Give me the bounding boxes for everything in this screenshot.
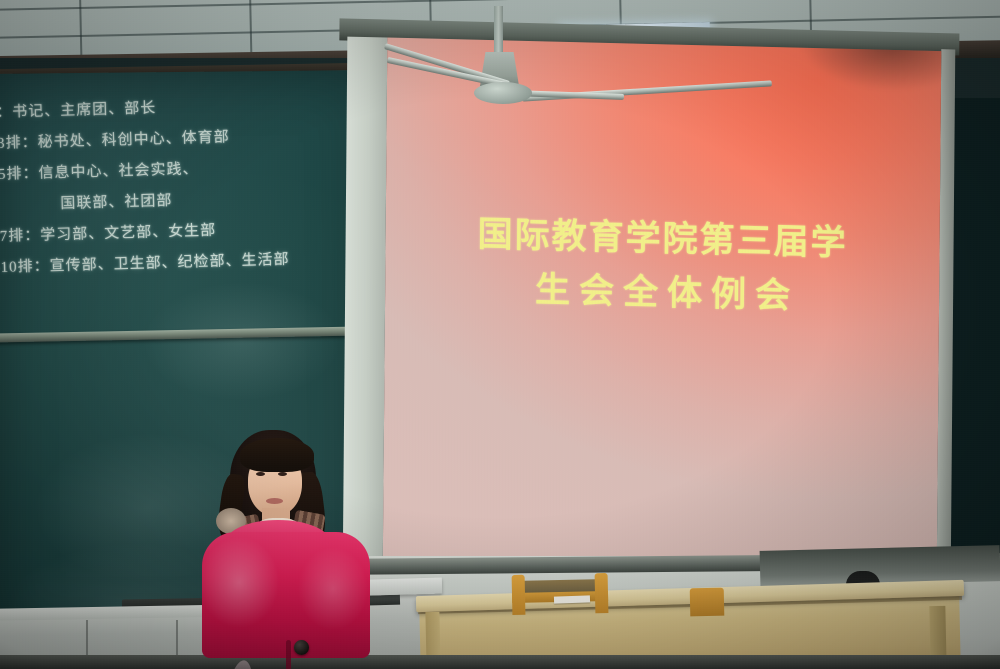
person-speaker: [196, 428, 376, 648]
projected-slide: 国际教育学院第三届学 生会全体例会: [383, 38, 941, 576]
pink-down-coat: [202, 532, 370, 658]
projection-screen: 国际教育学院第三届学 生会全体例会: [343, 31, 956, 591]
chair-post: [512, 575, 526, 615]
slide-title: 国际教育学院第三届学 生会全体例会: [385, 206, 940, 328]
hair-bangs: [240, 438, 314, 472]
mouth: [266, 498, 283, 504]
floor-shadow: [0, 655, 1000, 669]
eye-left: [256, 472, 265, 476]
coat-center-seam: [286, 640, 291, 669]
chair-post: [595, 573, 609, 613]
paper-on-desk: [554, 595, 590, 603]
wooden-chair-second: [690, 588, 725, 617]
coat-toggle-button: [294, 640, 309, 655]
wall-ledge-return: [760, 545, 1000, 587]
eye-right: [278, 472, 287, 476]
photo-scene: 1排：书记、主席团、部长 2—3排：秘书处、科创中心、体育部 4—5排：信息中心…: [0, 0, 1000, 669]
wooden-chair: [512, 573, 609, 615]
